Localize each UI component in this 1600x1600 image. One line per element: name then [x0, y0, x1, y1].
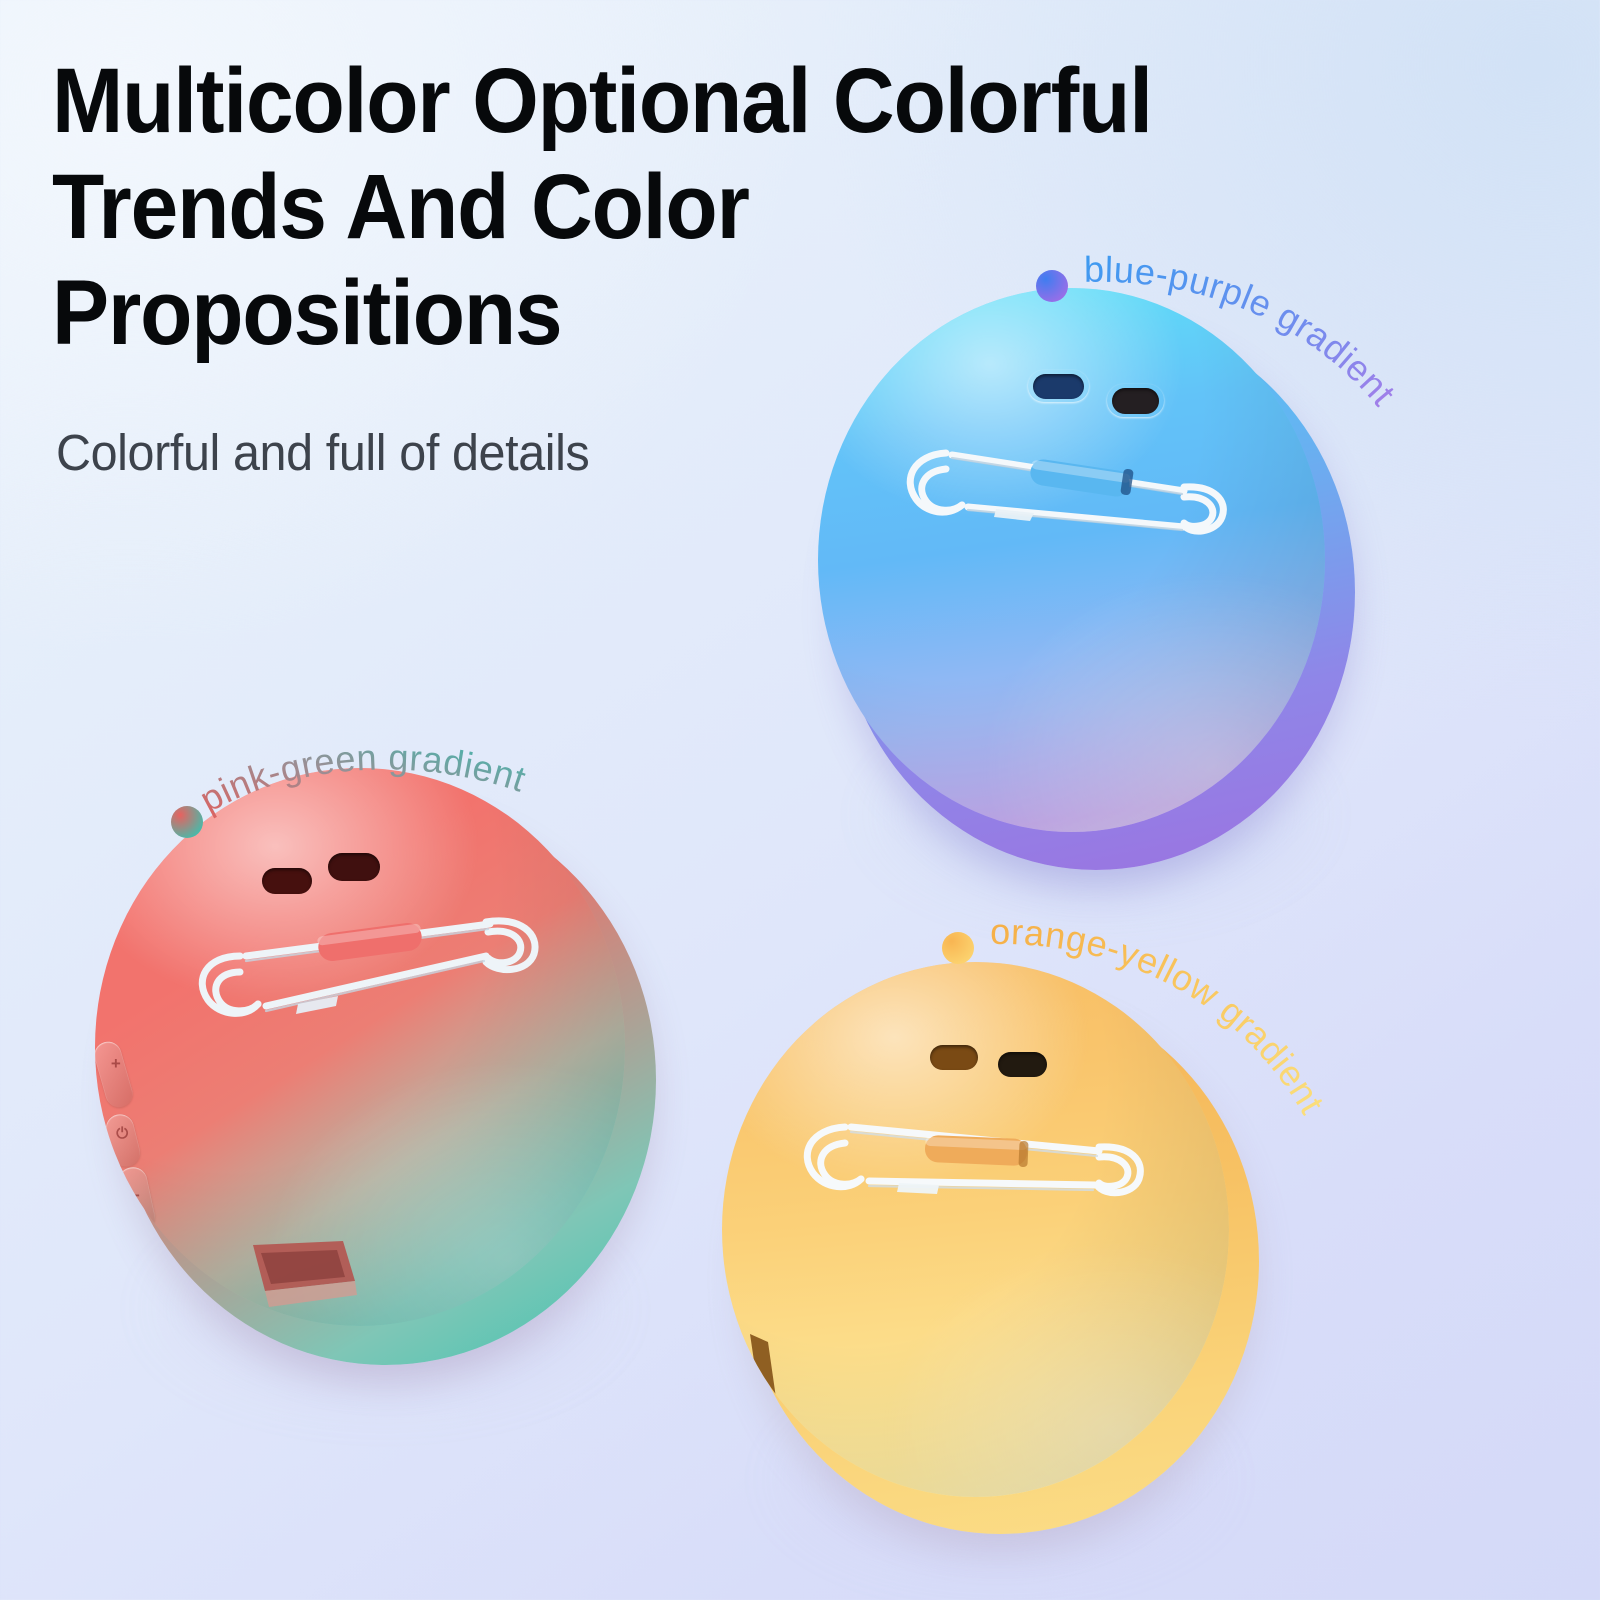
microphone-port [930, 1045, 979, 1070]
volume-up-button[interactable] [95, 1039, 136, 1111]
badge-face: + ⏻ − [95, 768, 625, 1326]
charging-port [328, 853, 380, 881]
power-glyph: ⏻ [116, 1126, 128, 1141]
product-badge-orange-yellow: orange-yellow gradient [722, 962, 1267, 1537]
volume-up-glyph: + [111, 1055, 121, 1072]
charging-port [998, 1052, 1047, 1078]
microphone-port [1033, 374, 1084, 399]
badge-face [818, 288, 1325, 832]
rim-notch [742, 1328, 812, 1438]
rim-notch [243, 1237, 373, 1326]
caption-dot-orange-yellow [942, 932, 974, 964]
product-badge-pink-green: + ⏻ − pink-green gradient [95, 768, 665, 1368]
badge-face [722, 962, 1229, 1497]
volume-down-glyph: − [130, 1187, 140, 1204]
product-badge-blue-purple: blue-purple gradient [818, 288, 1363, 873]
safety-pin [180, 908, 560, 1058]
page-subtitle: Colorful and full of details [56, 423, 589, 483]
microphone-port [262, 868, 312, 894]
headline-line-1: Multicolor Optional Colorful [52, 48, 1456, 154]
charging-port [1112, 388, 1159, 414]
safety-pin [783, 1101, 1163, 1241]
safety-pin [884, 435, 1244, 575]
rim-notch [836, 707, 906, 797]
headline-line-2: Trends And Color [52, 154, 1456, 260]
